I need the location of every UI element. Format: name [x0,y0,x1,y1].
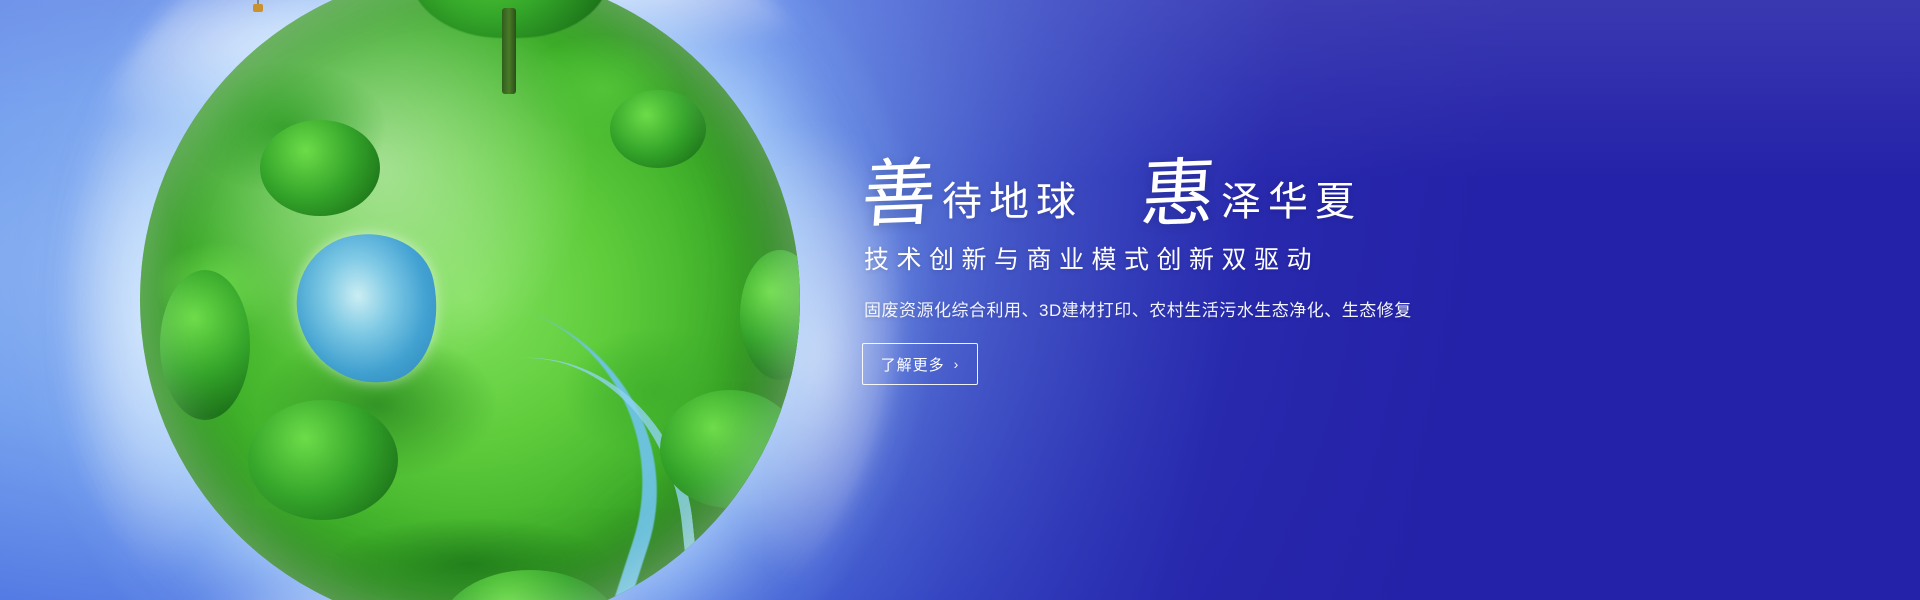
balloon-basket [253,4,263,12]
hero-tree-icon [410,0,610,88]
hero-subtitle: 技术创新与商业模式创新双驱动 [864,240,1462,276]
chevron-right-icon: › [954,357,960,371]
page-title: 善 待地球 惠 泽华夏 [862,130,1462,226]
hero-banner: 善 待地球 惠 泽华夏 技术创新与商业模式创新双驱动 固废资源化综合利用、3D建… [0,0,1920,600]
headline-calligraphy-char-1: 善 [859,157,938,234]
bird-flock-icon [665,0,805,5]
tree-trunk [502,8,516,94]
hot-air-balloon-icon [236,0,280,18]
globe-rim-light [140,0,800,600]
hero-copy-block: 善 待地球 惠 泽华夏 技术创新与商业模式创新双驱动 固废资源化综合利用、3D建… [862,130,1462,385]
hero-description: 固废资源化综合利用、3D建材打印、农村生活污水生态净化、生态修复 [864,296,1462,321]
learn-more-button[interactable]: 了解更多 › [862,343,978,385]
headline-calligraphy-char-2: 惠 [1138,157,1217,234]
globe-sphere [140,0,800,600]
tiny-planet-globe-image [80,0,870,600]
headline-text-1: 待地球 [942,182,1083,222]
learn-more-label: 了解更多 [881,354,945,375]
headline-text-2: 泽华夏 [1221,182,1362,222]
